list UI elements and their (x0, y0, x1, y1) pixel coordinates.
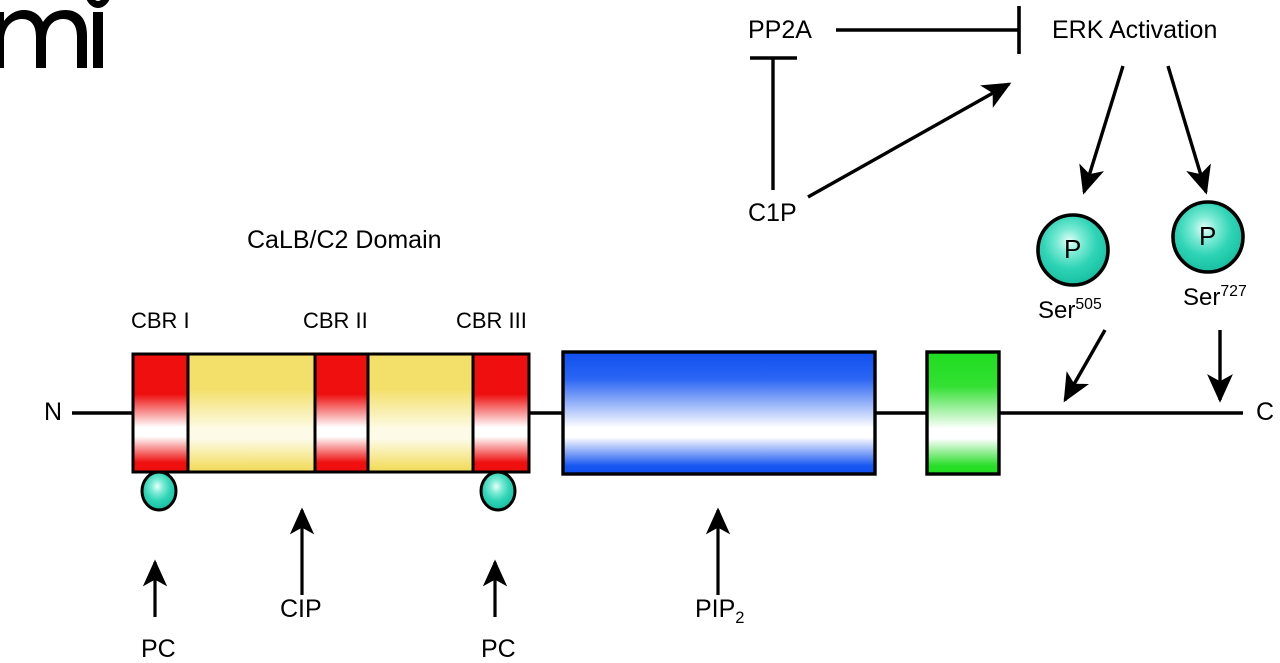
ligand-label-c1p: CIP (280, 597, 322, 622)
figure-canvas: N C CaLB/C2 Domain CBR I CBR II CBR III … (0, 0, 1280, 661)
arrow-ser505-backbone (1065, 330, 1105, 400)
pathway-label-erk-activation: ERK Activation (1052, 18, 1217, 43)
ligand-label-pip2-text: PIP (695, 595, 735, 623)
phospho-site-label-ser727: Ser727 (1183, 286, 1247, 310)
pc-binding-spheres (142, 472, 515, 510)
domain-block-catalytic (563, 352, 875, 474)
pathway-label-c1p: C1P (748, 201, 797, 226)
domain-block-cbr-1 (133, 354, 188, 472)
ser505-position: 505 (1075, 296, 1101, 313)
arrow-c1p-erk (808, 84, 1009, 197)
c-terminus-label: C (1256, 400, 1274, 425)
n-terminus-label: N (44, 400, 62, 425)
pathway-label-pp2a: PP2A (748, 18, 812, 43)
inhibition-c1p-pp2a (750, 58, 797, 190)
domain-block-c-terminal (927, 352, 999, 474)
region-label-cbr-2: CBR II (303, 310, 368, 332)
domain-block-linker-1 (188, 354, 315, 472)
arrow-erk-ser727 (1168, 66, 1206, 192)
pc-sphere-cbr-1 (142, 472, 176, 510)
ligand-arrows (155, 510, 718, 617)
phospho-letter-ser505: P (1064, 236, 1081, 262)
ligand-label-pip2-subscript: 2 (735, 609, 744, 627)
diagram-vectors (0, 0, 1280, 661)
domain-block-cbr-2 (315, 354, 368, 472)
domain-block-linker-2 (368, 354, 473, 472)
ser727-position: 727 (1220, 283, 1246, 300)
ser727-residue: Ser (1183, 284, 1220, 311)
calb-domain-title: CaLB/C2 Domain (247, 228, 442, 253)
ligand-label-pc-left: PC (141, 637, 176, 662)
region-label-cbr-1: CBR I (131, 310, 190, 332)
domain-block-cbr-3 (473, 354, 529, 472)
region-label-cbr-3: CBR III (456, 310, 527, 332)
domain-blocks (133, 352, 999, 474)
phospho-letter-ser727: P (1199, 223, 1216, 249)
ser505-residue: Ser (1038, 297, 1075, 324)
inhibition-pp2a-erk (836, 6, 1019, 54)
ligand-label-pc-right: PC (481, 637, 516, 662)
pc-sphere-cbr-3 (481, 472, 515, 510)
ligand-label-pip2: PIP2 (695, 597, 744, 622)
phospho-site-label-ser505: Ser505 (1038, 299, 1102, 323)
arrow-erk-ser505 (1084, 66, 1123, 192)
pathway-connectors (750, 6, 1220, 400)
